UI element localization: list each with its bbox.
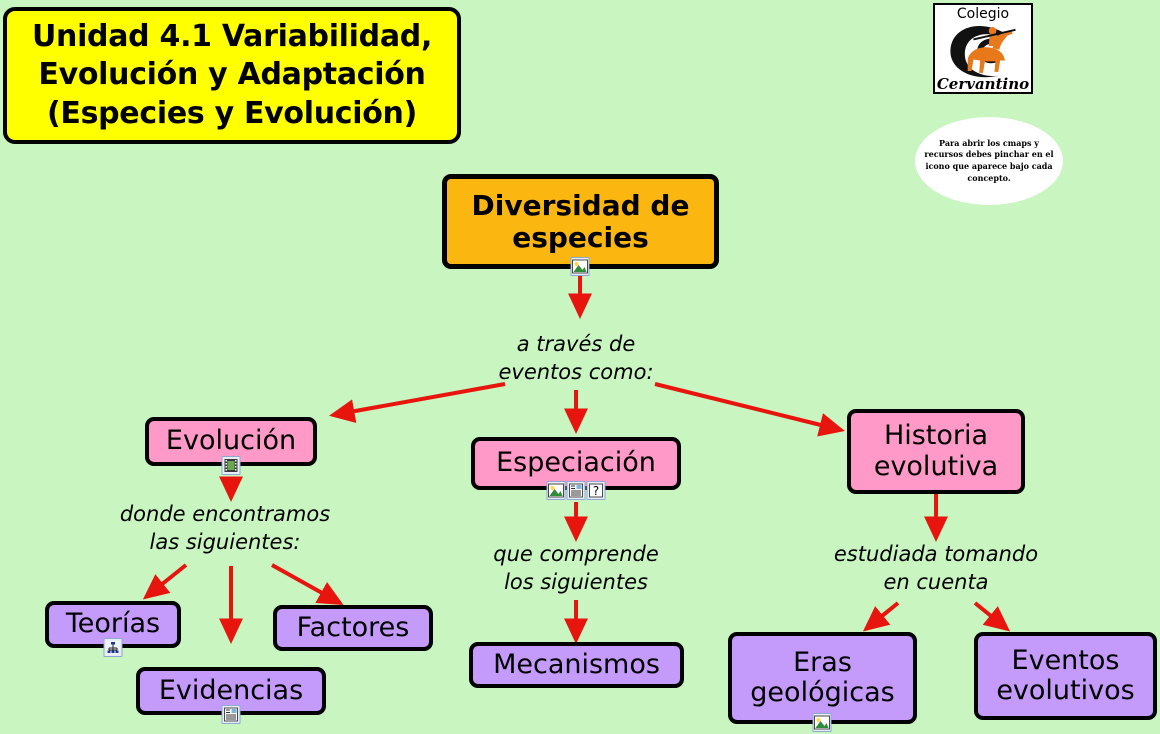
edge-label-root-out: a través de eventos como: — [498, 330, 653, 387]
node-factores[interactable]: Factores — [273, 605, 433, 651]
edge-label-to-eras — [866, 603, 898, 629]
edge-label-line2: las siguientes: — [120, 528, 330, 556]
node-label: Eventos evolutivos — [978, 646, 1153, 706]
image-icon[interactable] — [571, 257, 590, 276]
svg-text:?: ? — [593, 484, 599, 498]
edge-label-evolucion-out: donde encontramos las siguientes: — [120, 500, 330, 557]
node-label: Mecanismos — [485, 650, 668, 680]
node-label: Eras geológicas — [732, 648, 913, 708]
node-label: Historia evolutiva — [851, 421, 1021, 481]
icon-strip-evidencias — [222, 705, 241, 724]
film-icon[interactable] — [222, 456, 241, 475]
node-eras-geologicas[interactable]: Eras geológicas — [728, 632, 917, 724]
icon-strip-teorias — [104, 638, 123, 657]
node-mecanismos[interactable]: Mecanismos — [469, 642, 684, 688]
node-label: Evidencias — [151, 676, 311, 706]
edge-label-to-evolucion — [333, 384, 505, 415]
edge-label-to-teorias — [146, 565, 186, 597]
node-label-line1: Eventos — [1012, 645, 1120, 676]
node-historia-evolutiva[interactable]: Historia evolutiva — [847, 409, 1025, 494]
edge-label-historia-out: estudiada tomando en cuenta — [834, 540, 1038, 597]
node-label-line2: evolutiva — [874, 451, 998, 482]
page-title-line3: (Especies y Evolución) — [47, 95, 417, 133]
page-title: Unidad 4.1 Variabilidad, Evolución y Ada… — [3, 7, 461, 144]
edge-label-to-eventos — [975, 603, 1007, 629]
logo-top-text: Colegio — [935, 6, 1031, 22]
node-label-line2: geológicas — [750, 677, 894, 708]
node-label-line2: evolutivos — [996, 675, 1134, 706]
page-title-line1: Unidad 4.1 Variabilidad, — [32, 18, 432, 56]
edge-label-line2: los siguientes — [493, 568, 659, 596]
node-label: Especiación — [488, 448, 664, 478]
icon-strip-eras — [813, 713, 832, 732]
edge-label-to-factores — [272, 565, 340, 603]
instruction-note-text: Para abrir los cmaps y recursos debes pi… — [915, 138, 1063, 184]
document-icon[interactable] — [567, 481, 586, 500]
node-eventos-evolutivos[interactable]: Eventos evolutivos — [974, 632, 1157, 720]
edge-label-line1: a través de — [498, 330, 653, 358]
edge-label-to-historia — [655, 384, 841, 430]
school-logo: Colegio Cervantino — [933, 3, 1033, 94]
image-icon[interactable] — [813, 713, 832, 732]
concept-map-icon[interactable] — [104, 638, 123, 657]
edge-label-line2: eventos como: — [498, 358, 653, 386]
node-label: Factores — [289, 613, 418, 643]
page-title-line2: Evolución y Adaptación — [38, 56, 425, 94]
icon-strip-root — [571, 257, 590, 276]
node-label: Evolución — [158, 426, 304, 456]
edge-label-line2: en cuenta — [834, 568, 1038, 596]
logo-bottom-text: Cervantino — [935, 75, 1031, 93]
edge-label-line1: donde encontramos — [120, 500, 330, 528]
node-label-line1: Historia — [884, 420, 988, 451]
icon-strip-especiacion: ? — [547, 481, 606, 500]
concept-map-canvas: Unidad 4.1 Variabilidad, Evolución y Ada… — [0, 0, 1160, 734]
edge-label-line1: estudiada tomando — [834, 540, 1038, 568]
node-label: Teorías — [58, 609, 168, 639]
node-label: Diversidad de especies — [447, 190, 714, 253]
node-label-line1: Eras — [793, 647, 852, 678]
edge-label-especiacion-out: que comprende los siguientes — [493, 540, 659, 597]
document-icon[interactable] — [222, 705, 241, 724]
icon-strip-evolucion — [222, 456, 241, 475]
image-icon[interactable] — [547, 481, 566, 500]
instruction-note: Para abrir los cmaps y recursos debes pi… — [915, 117, 1063, 205]
node-diversidad-de-especies[interactable]: Diversidad de especies — [442, 174, 719, 269]
question-icon[interactable]: ? — [587, 481, 606, 500]
edge-label-line1: que comprende — [493, 540, 659, 568]
